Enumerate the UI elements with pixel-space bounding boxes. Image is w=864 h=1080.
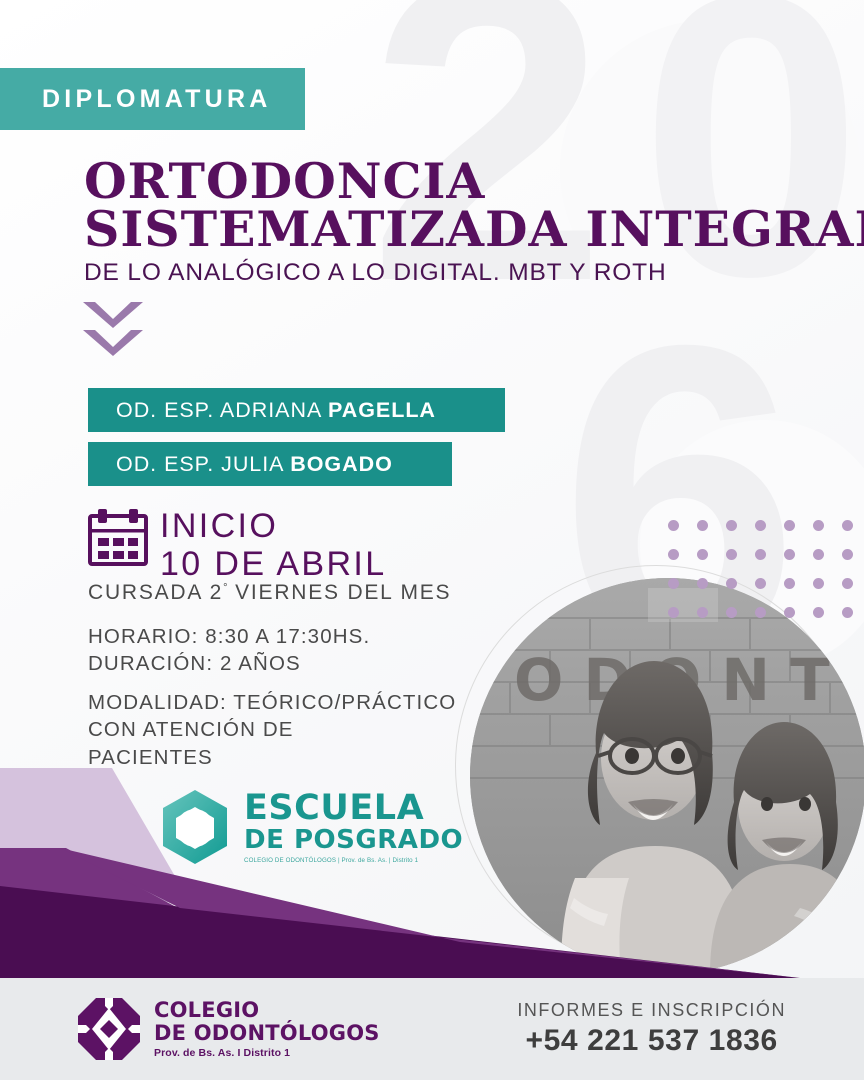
escuela-logo-line-1: ESCUELA <box>244 792 463 826</box>
presenter-prefix: OD. ESP. ADRIANA <box>116 398 328 422</box>
presenter-surname: PAGELLA <box>328 398 436 422</box>
cursada-prefix: CURSADA 2 <box>88 581 223 604</box>
chevron-down-icon <box>83 302 143 328</box>
diplomatura-badge: DIPLOMATURA <box>0 68 305 130</box>
presenter-bar: OD. ESP. JULIA BOGADO <box>88 442 452 486</box>
start-date-block: INICIO 10 DE ABRIL <box>160 507 387 583</box>
calendar-icon <box>88 508 148 571</box>
escuela-logo-line-2: DE POSGRADO <box>244 827 463 853</box>
colegio-logo-line-3: Prov. de Bs. As. I Distrito 1 <box>154 1047 380 1059</box>
title-subtitle: DE LO ANALÓGICO A LO DIGITAL. MBT Y ROTH <box>84 259 864 287</box>
colegio-logo-line-1: COLEGIO <box>154 999 380 1022</box>
presenter-prefix: OD. ESP. JULIA <box>116 452 290 476</box>
inicio-date: 10 DE ABRIL <box>160 545 387 583</box>
poster-root: 2 0 6 DIPLOMATURA ORTODONCIA SISTEMATIZA… <box>0 0 864 1080</box>
schedule-text: HORARIO: 8:30 A 17:30HS. DURACIÓN: 2 AÑO… <box>88 623 370 678</box>
chevron-down-icon <box>83 330 143 356</box>
presenter-bar: OD. ESP. ADRIANA PAGELLA <box>88 388 505 432</box>
duracion-line: DURACIÓN: 2 AÑOS <box>88 650 370 677</box>
inicio-label: INICIO <box>160 507 387 545</box>
escuela-posgrado-logo: ESCUELA DE POSGRADO COLEGIO DE ODONTÓLOG… <box>158 788 463 866</box>
presenter-surname: BOGADO <box>290 452 393 476</box>
cursada-suffix: VIERNES DEL MES <box>228 581 452 604</box>
title-line-1: ORTODONCIA <box>84 158 864 206</box>
contact-phone[interactable]: +54 221 537 1836 <box>517 1024 786 1058</box>
presenter-name: OD. ESP. JULIA BOGADO <box>88 452 393 477</box>
contact-block: INFORMES E INSCRIPCIÓN +54 221 537 1836 <box>517 1000 786 1058</box>
page-title: ORTODONCIA SISTEMATIZADA INTEGRAL DE LO … <box>84 158 864 287</box>
escuela-logo-line-3: COLEGIO DE ODONTÓLOGOS | Prov. de Bs. As… <box>244 857 463 864</box>
escuela-hexagon-icon <box>158 788 232 866</box>
contact-label: INFORMES E INSCRIPCIÓN <box>517 1000 786 1021</box>
diplomatura-badge-label: DIPLOMATURA <box>0 85 272 114</box>
presenter-name: OD. ESP. ADRIANA PAGELLA <box>88 398 436 423</box>
colegio-logo-line-2: DE ODONTÓLOGOS <box>154 1022 380 1045</box>
title-line-2: SISTEMATIZADA INTEGRAL <box>84 206 864 254</box>
colegio-odontologos-logo: COLEGIO DE ODONTÓLOGOS Prov. de Bs. As. … <box>78 998 380 1060</box>
horario-line: HORARIO: 8:30 A 17:30HS. <box>88 623 370 650</box>
colegio-octagon-icon <box>78 998 140 1060</box>
cursada-text: CURSADA 2° VIERNES DEL MES <box>88 581 451 605</box>
